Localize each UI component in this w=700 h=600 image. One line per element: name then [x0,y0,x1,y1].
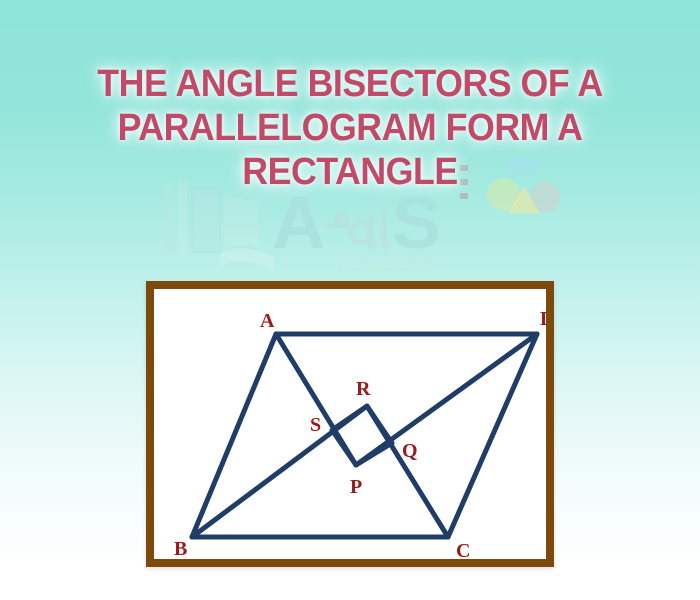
vertex-label-S: S [310,414,321,436]
figure-frame: A B C D P Q R S [146,281,554,567]
vertex-label-R: R [356,378,371,400]
vertex-label-A: A [260,310,275,332]
poster-page: Aશ્વાS Academy THE ANGLE BISECTORS OF A … [0,0,700,600]
geometry-diagram: A B C D P Q R S [154,289,546,559]
watermark-logo-text: Aશ્વાS [272,186,440,266]
vertex-label-D: D [540,308,546,330]
vertex-label-C: C [456,540,470,559]
vertex-label-B: B [174,538,187,559]
page-title: THE ANGLE BISECTORS OF A PARALLELOGRAM F… [21,62,679,194]
vertex-label-P: P [350,476,362,498]
watermark-tagline: Academy [338,246,437,277]
watermark-logo-gujarati: શ્વા [324,197,391,260]
vertex-label-Q: Q [402,440,418,462]
